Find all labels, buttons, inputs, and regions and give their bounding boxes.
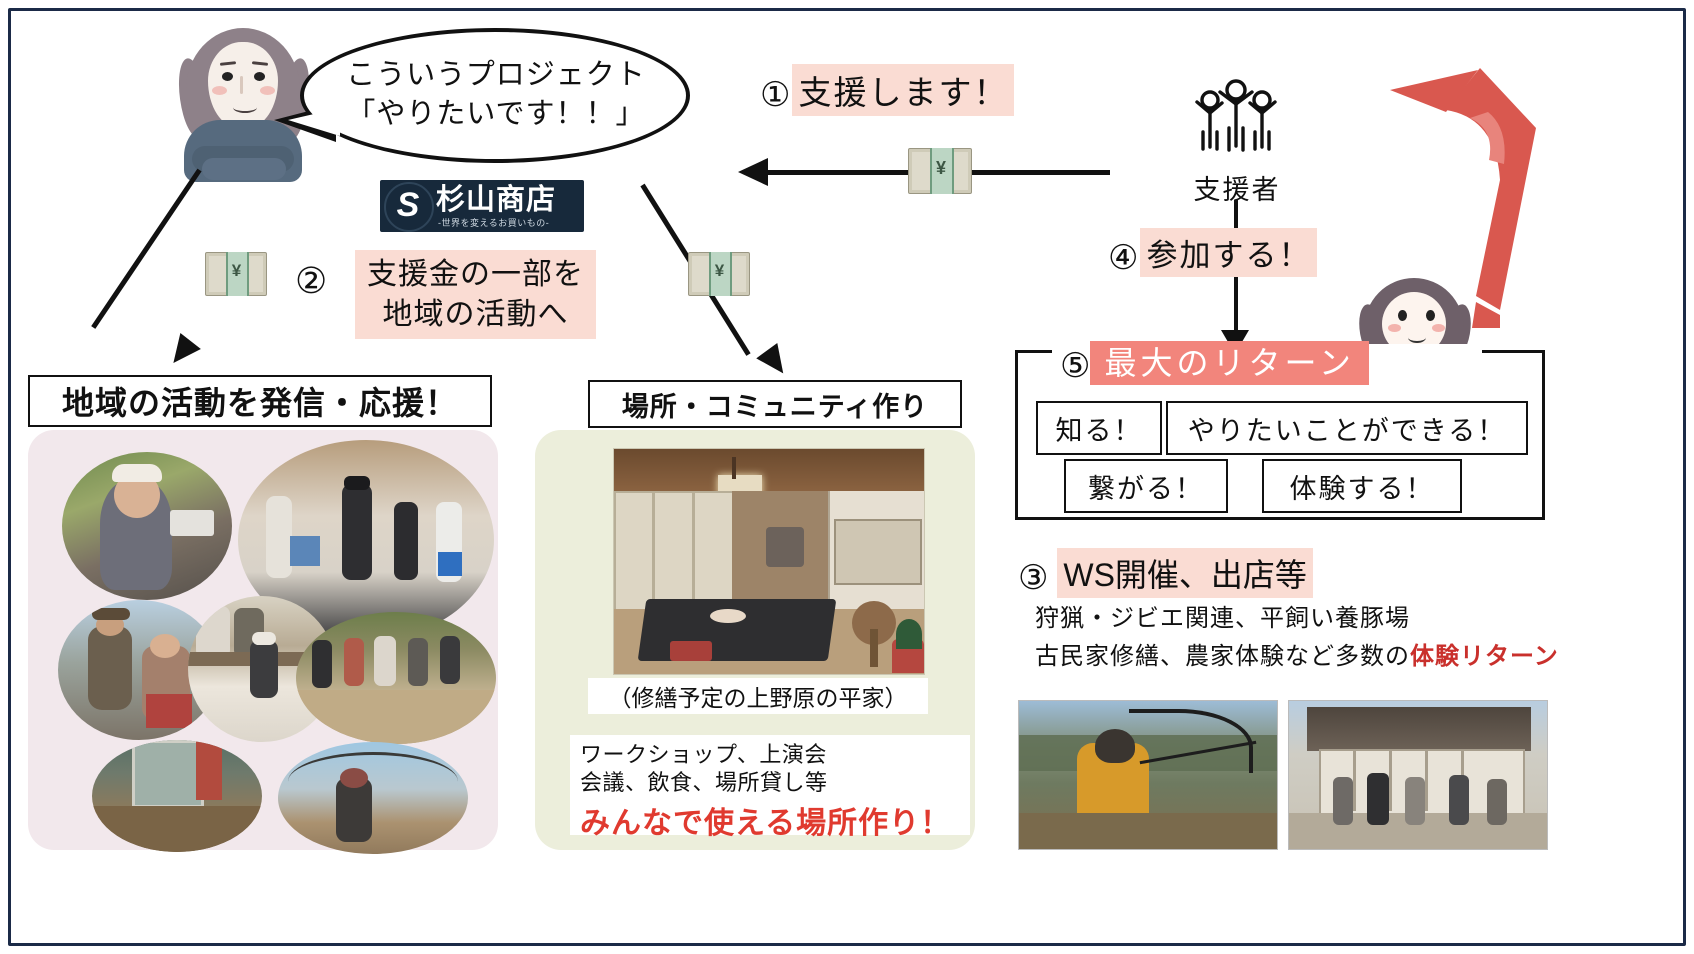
group-at-old-house-photo	[1288, 700, 1548, 850]
man-with-headband-photo	[62, 452, 232, 600]
middle-info-line-1: ワークショップ、上演会	[580, 741, 960, 769]
step-3-text: WS開催、出店等	[1057, 548, 1313, 598]
speech-line-2: 「やりたいです！！」	[326, 95, 666, 134]
logo-s-mark: S	[388, 184, 428, 226]
logo-name: 杉山商店	[436, 183, 556, 217]
sugiyama-shop-logo: S 杉山商店 -世界を変えるお買いもの-	[380, 180, 584, 232]
old-japanese-house-interior-photo	[613, 448, 925, 675]
curly-hair-person-illustration	[178, 28, 308, 178]
step-1-text: 支援します！	[792, 64, 1014, 116]
section-3-line-2-plain: 古民家修繕、農家体験など多数の	[1035, 643, 1410, 670]
person-in-field-photo	[278, 742, 468, 854]
return-cell-2: やりたいことができる！	[1166, 401, 1528, 455]
step-3-number: ③	[1018, 561, 1048, 595]
speech-bubble: こういうプロジェクト 「やりたいです！！」	[300, 28, 690, 163]
step-5-number: ⑤	[1060, 349, 1090, 383]
step-4-label-group: ④参加する！	[1108, 228, 1317, 277]
money-bundle-yen-icon: ¥	[205, 252, 267, 296]
left-column-title-text: 地域の活動を発信・応援！	[62, 378, 458, 424]
people-raising-hands-icon	[1188, 78, 1284, 168]
return-cell-3: 繋がる！	[1064, 459, 1228, 513]
return-cell-4: 体験する！	[1262, 459, 1462, 513]
infographic-page: こういうプロジェクト 「やりたいです！！」 S 杉山商店 -世界を変えるお買いも…	[0, 0, 1694, 954]
step-1-label-group: ①支援します！	[760, 64, 1014, 116]
step-1-number: ①	[760, 78, 792, 112]
section-3-line-2-bold: 体験リターン	[1410, 643, 1559, 670]
speech-line-1: こういうプロジェクト	[326, 56, 666, 95]
step-4-number: ④	[1108, 241, 1140, 275]
old-house-repair-photo	[92, 740, 262, 852]
middle-column-title: 場所・コミュニティ作り	[588, 380, 962, 428]
money-flow-arrow-head	[738, 158, 768, 186]
group-on-rocks-photo	[296, 612, 496, 744]
middle-info-box: ワークショップ、上演会 会議、飲食、場所貸し等 みんなで使える場所作り！	[570, 735, 970, 835]
step-5-label-group: ⑤最大のリターン	[1060, 338, 1369, 384]
return-cell-1: 知る！	[1036, 401, 1162, 455]
middle-photo-caption: （修繕予定の上野原の平家）	[588, 678, 928, 714]
step-2-label-group: ② 支援金の一部を 地域の活動へ	[295, 250, 625, 336]
middle-photo-caption-text: （修繕予定の上野原の平家）	[609, 679, 908, 713]
step-2-text-line-1: 支援金の一部を	[367, 255, 584, 295]
middle-info-line-2: 会議、飲食、場所貸し等	[580, 769, 960, 797]
supporter-down-line-2	[1234, 272, 1238, 334]
section-3-line-1: 狩猟・ジビエ関連、平飼い養豚場	[1035, 598, 1410, 633]
step-3-label-group: ③ WS開催、出店等	[1018, 548, 1313, 598]
money-bundle-yen-icon: ¥	[908, 148, 972, 194]
step-4-text: 参加する！	[1140, 228, 1317, 277]
step-2-text-line-2: 地域の活動へ	[367, 295, 584, 335]
logo-tagline: -世界を変えるお買いもの-	[438, 216, 549, 229]
middle-info-line-3: みんなで使える場所作り！	[580, 798, 960, 842]
archery-hunting-photo	[1018, 700, 1278, 850]
left-column-title: 地域の活動を発信・応援！	[28, 375, 492, 427]
section-3-line-2: 古民家修繕、農家体験など多数の体験リターン	[1035, 636, 1559, 671]
step-5-text: 最大のリターン	[1090, 341, 1368, 385]
money-bundle-yen-icon: ¥	[688, 252, 750, 296]
middle-column-title-text: 場所・コミュニティ作り	[622, 385, 928, 424]
